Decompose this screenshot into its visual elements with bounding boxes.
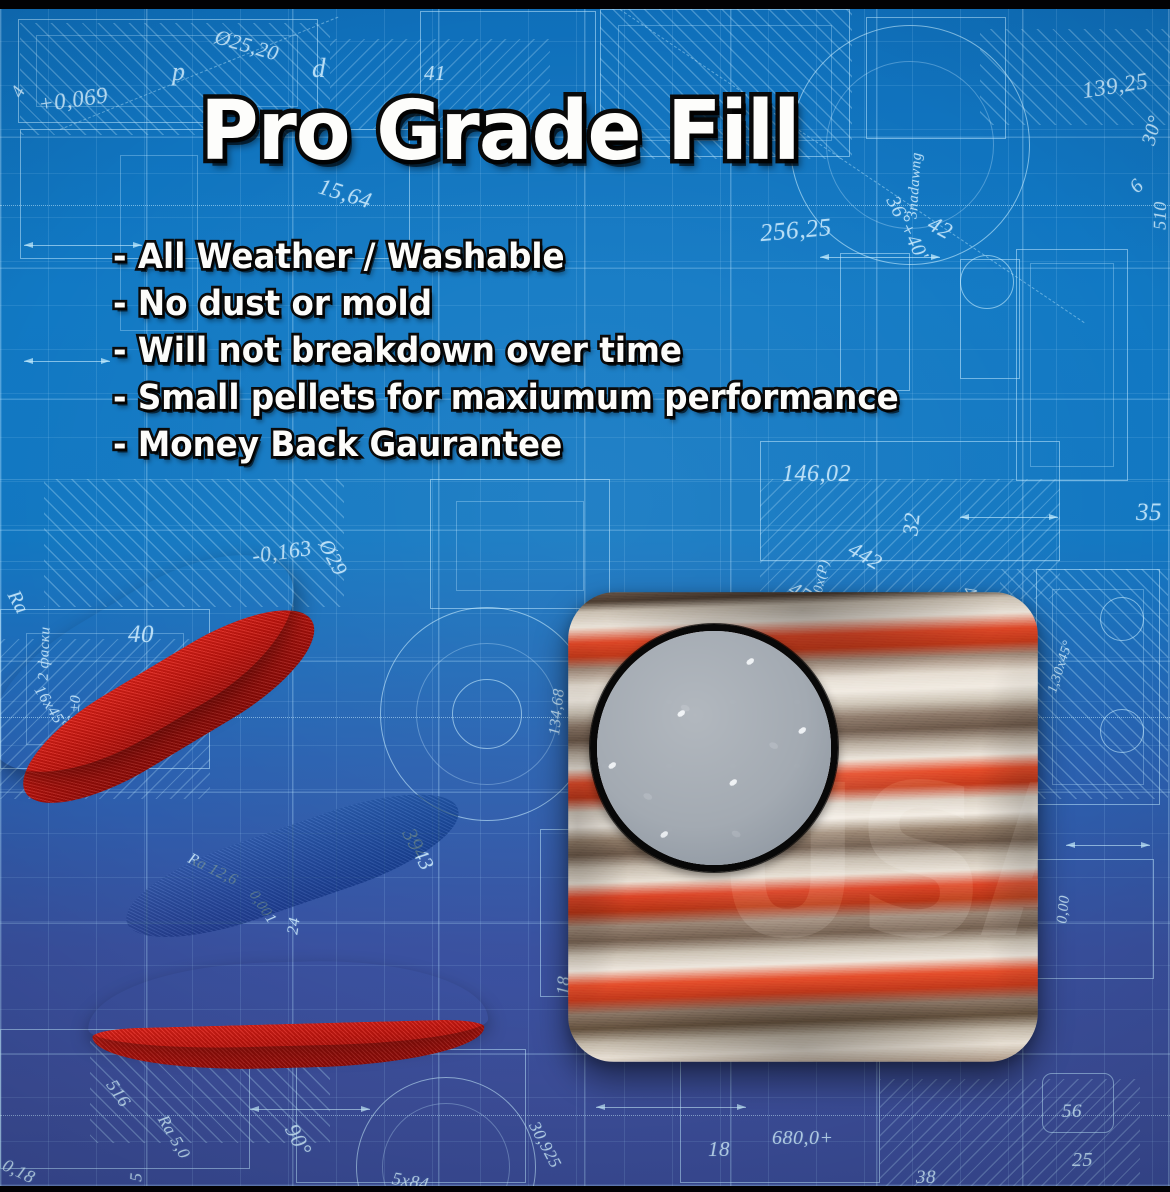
blueprint-note: Ø25,20 [212, 24, 282, 66]
blueprint-note: 15,64 [315, 174, 374, 215]
blueprint-note: 35 [1136, 499, 1162, 527]
feature-list: - All Weather / Washable - No dust or mo… [113, 234, 1073, 469]
poster-headline: Pro Grade Fill [0, 92, 1000, 172]
blueprint-note: Ra [2, 587, 33, 618]
blueprint-note: 680,0+ [772, 1127, 834, 1150]
feature-item-3: - Will not breakdown over time [113, 328, 1006, 375]
headline-text: Pro Grade Fill [200, 92, 799, 172]
letterbox-bar-top [0, 0, 1170, 9]
feature-item-2: - No dust or mold [113, 281, 1006, 328]
pellet-inset-shading [597, 631, 831, 865]
blueprint-note: 0,18 [0, 1155, 38, 1186]
feature-item-1: - All Weather / Washable [113, 234, 1006, 281]
blueprint-note: 56 [1062, 1101, 1082, 1123]
blueprint-note: p [172, 57, 186, 87]
blueprint-note: 134,68 [546, 688, 569, 737]
blueprint-note: 30,925 [524, 1118, 565, 1171]
blueprint-note: 41 [424, 61, 446, 86]
blueprint-note: 5x84 [390, 1168, 430, 1186]
blueprint-note: Ø29 [313, 535, 353, 580]
blueprint-note: 5 [126, 1172, 147, 1182]
blueprint-note: 0,00 [1054, 895, 1074, 925]
blueprint-note: 1,30x45° [1045, 639, 1077, 696]
pellet-magnifier-inset [590, 624, 838, 872]
blueprint-note: 6 [1125, 175, 1149, 199]
cornhole-bag-front: USA [568, 592, 1038, 1062]
blueprint-note: d [312, 53, 326, 84]
feature-item-4: - Small pellets for maxiumum performance [113, 375, 1006, 422]
blueprint-note: 30° [1138, 113, 1168, 148]
blueprint-note: 25 [1072, 1149, 1093, 1172]
blueprint-note: 18 [708, 1137, 730, 1162]
blueprint-note: 516 [102, 1076, 135, 1111]
cornhole-bag-bottom [87, 957, 490, 1077]
blueprint-note: 139,25 [1080, 68, 1150, 104]
blueprint-note: Ra 5,0 [153, 1111, 194, 1162]
blueprint-note: 90° [279, 1120, 317, 1161]
blueprint-note: 510 [1150, 201, 1170, 230]
feature-item-5: - Money Back Gaurantee [113, 422, 1006, 469]
bag-bottom-fleece-fabric [87, 957, 489, 1051]
letterbox-bar-bottom [0, 1186, 1170, 1192]
blueprint-note: 442 [844, 536, 887, 576]
product-poster: +0,0694pØ25,20d4115,64139,2530°6256,2536… [0, 0, 1170, 1192]
bag-bottom-body [87, 957, 489, 1051]
blueprint-note: 38 [916, 1167, 936, 1186]
blueprint-note: 32 [897, 511, 925, 537]
